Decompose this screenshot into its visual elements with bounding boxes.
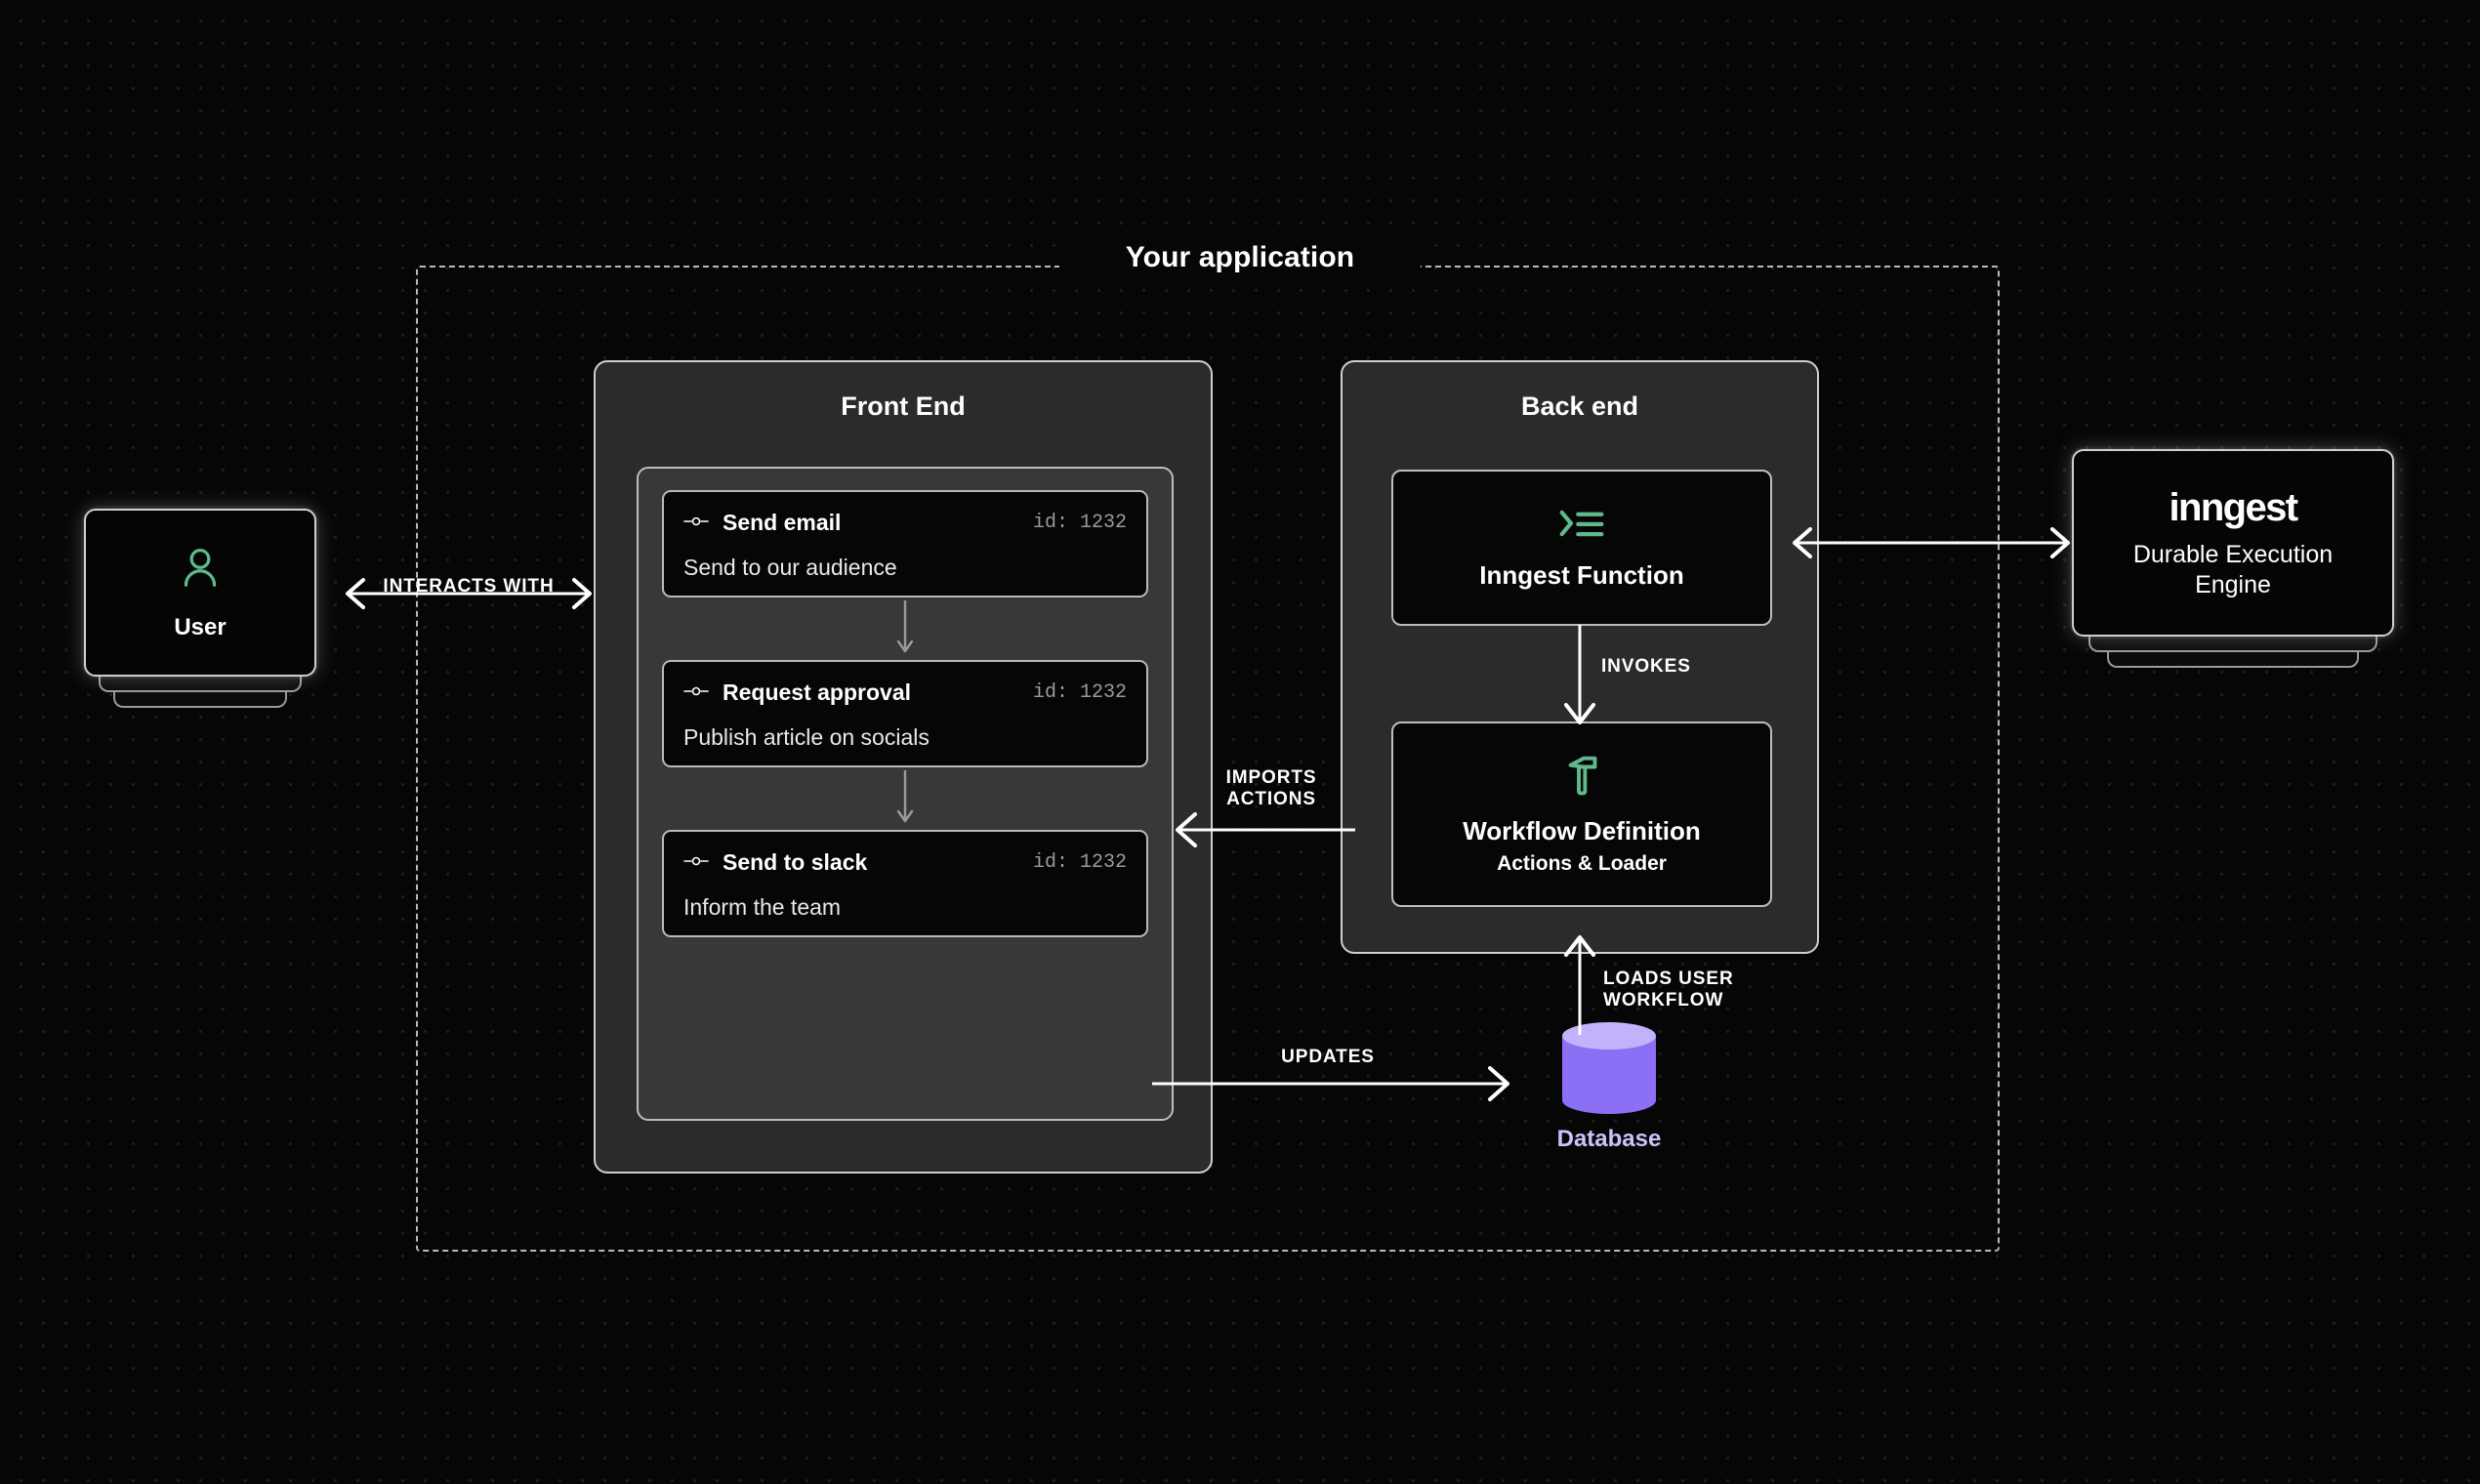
connector-label-updates: UPDATES [1220, 1047, 1435, 1068]
user-icon [178, 545, 223, 598]
workflow-card-id: id: 1232 [1033, 512, 1127, 534]
workflow-node-icon [683, 684, 709, 702]
workflow-node-icon [683, 515, 709, 532]
connector-label-invokes: INVOKES [1601, 656, 1777, 678]
inngest-node-subtitle: Durable Execution Engine [2093, 540, 2373, 599]
inngest-function-title: Inngest Function [1479, 560, 1683, 591]
connector-invokes [1562, 625, 1601, 732]
workflow-definition-subtitle: Actions & Loader [1497, 852, 1667, 876]
user-node-label: User [174, 614, 226, 641]
workflow-card-title: Send email [723, 510, 841, 536]
connector-label-loads-user-workflow: LOADS USER WORKFLOW [1603, 969, 1808, 1012]
workflow-card-description: Publish article on socials [683, 724, 1127, 751]
connector-label-interacts-with: INTERACTS WITH [332, 576, 605, 598]
workflow-card-description: Inform the team [683, 894, 1127, 921]
workflow-card-title: Send to slack [723, 849, 867, 876]
workflow-card-send-email[interactable]: Send email id: 1232 Send to our audience [662, 490, 1148, 598]
user-node-shelf-back [113, 690, 287, 708]
workflow-card-request-approval[interactable]: Request approval id: 1232 Publish articl… [662, 660, 1148, 767]
workflow-definition-title: Workflow Definition [1463, 816, 1701, 846]
database-label: Database [1531, 1126, 1687, 1153]
user-node-face: User [84, 509, 316, 677]
connector-imports-actions [1164, 810, 1359, 849]
database-node: Database [1531, 1022, 1687, 1153]
inngest-logo: inngest [2169, 486, 2296, 530]
user-node-shelf-front [99, 675, 302, 692]
inngest-engine-node: inngest Durable Execution Engine [2072, 449, 2394, 637]
terminal-code-icon [1558, 505, 1605, 547]
inngest-node-shelf-front [2088, 635, 2377, 652]
back-end-title: Back end [1343, 392, 1817, 422]
workflow-card-id: id: 1232 [1033, 851, 1127, 874]
workflow-definition-card[interactable]: Workflow Definition Actions & Loader [1391, 721, 1772, 907]
diagram-canvas: Your application User inngest Durable Ex… [0, 0, 2480, 1484]
workflow-card-id: id: 1232 [1033, 681, 1127, 704]
connector-label-imports-actions: IMPORTS ACTIONS [1183, 767, 1359, 811]
workflow-card-description: Send to our audience [683, 555, 1127, 581]
hammer-icon [1560, 753, 1603, 803]
inngest-node-shelf-back [2107, 650, 2359, 668]
front-end-title: Front End [596, 392, 1211, 422]
workflow-connector-arrow-2 [662, 767, 1148, 830]
workflow-card-header: Request approval id: 1232 [683, 680, 1127, 706]
workflow-card-send-to-slack[interactable]: Send to slack id: 1232 Inform the team [662, 830, 1148, 937]
workflow-node-icon [683, 854, 709, 872]
workflow-card-header: Send email id: 1232 [683, 510, 1127, 536]
front-end-panel: Front End Send email id: 1232 Send to ou… [594, 360, 1213, 1174]
workflow-card-title: Request approval [723, 680, 911, 706]
workflow-editor-container: Send email id: 1232 Send to our audience [637, 467, 1174, 1121]
inngest-node-face: inngest Durable Execution Engine [2072, 449, 2394, 637]
workflow-card-header: Send to slack id: 1232 [683, 849, 1127, 876]
workflow-connector-arrow-1 [662, 598, 1148, 660]
connector-loads-user-workflow [1562, 929, 1601, 1037]
connector-backend-to-inngest [1779, 523, 2084, 562]
user-node: User [84, 509, 316, 677]
connector-updates [1152, 1064, 1523, 1103]
your-application-title: Your application [1059, 239, 1421, 276]
inngest-function-card[interactable]: Inngest Function [1391, 470, 1772, 626]
